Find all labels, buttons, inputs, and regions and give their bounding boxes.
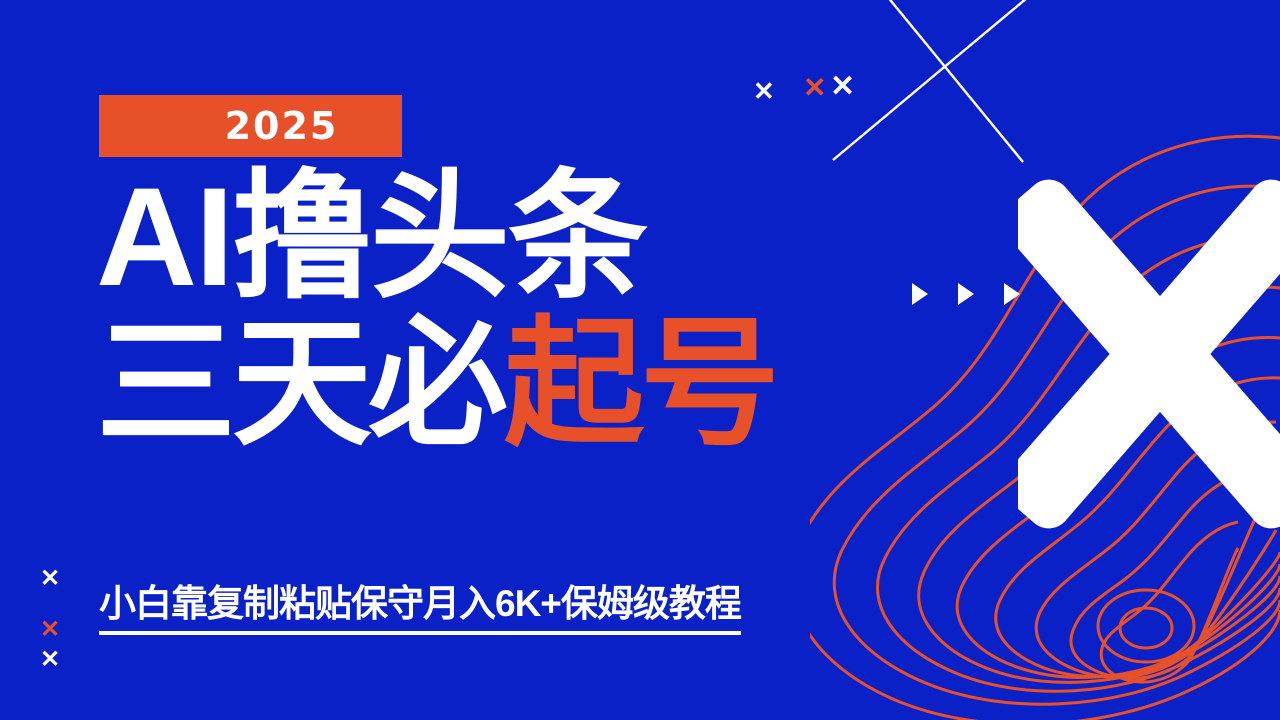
year-badge-label: 2025 [225, 104, 339, 148]
headline-line-2-accent: 起号 [504, 305, 776, 462]
subtitle: 小白靠复制粘贴保守月入6K+保姆级教程 [99, 573, 741, 635]
headline: AI撸头条 三天必起号 [96, 168, 776, 452]
headline-line-2: 三天必起号 [96, 315, 776, 452]
content-layer: 2025 AI撸头条 三天必起号 小白靠复制粘贴保守月入6K+保姆级教程 [0, 0, 1280, 720]
year-badge: 2025 [99, 95, 402, 157]
headline-line-1: AI撸头条 [96, 168, 776, 305]
headline-line-2-white: 三天必 [96, 305, 504, 462]
poster-canvas: ✕ ✕ ✕ ✕ ✕ ✕ 2025 AI撸头条 三天必起号 小白靠复制粘贴保守月入… [0, 0, 1280, 720]
